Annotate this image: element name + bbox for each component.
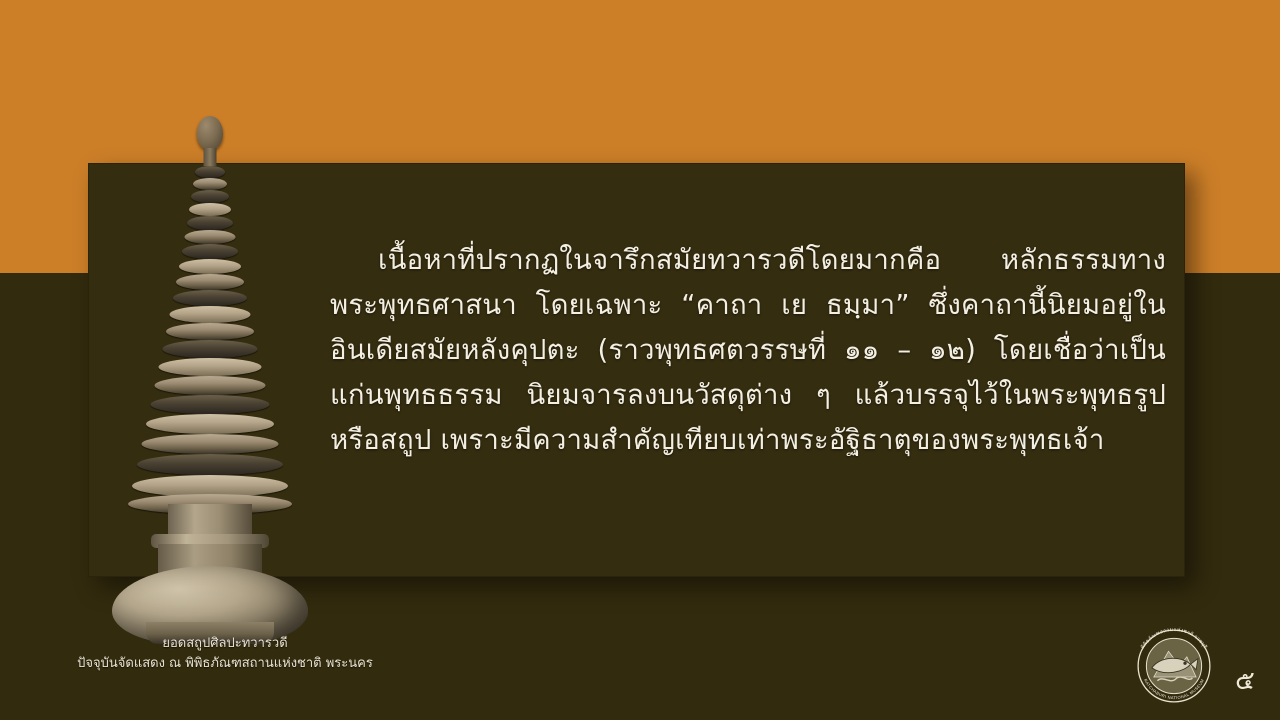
- spire-ring: [195, 166, 225, 178]
- spire-ring: [146, 414, 274, 434]
- caption-line-1: ยอดสถูปศิลปะทวารวดี: [60, 634, 390, 654]
- finial-neck: [204, 148, 217, 166]
- spire-ring: [173, 290, 247, 306]
- finial-bud: [197, 116, 223, 150]
- spire-ring: [189, 203, 231, 216]
- spire-ring: [179, 259, 241, 274]
- spire-ring: [151, 395, 270, 414]
- body-paragraph: เนื้อหาที่ปรากฏในจารึกสมัยทวารวดีโดยมากค…: [330, 238, 1166, 463]
- spire-ring: [182, 244, 238, 259]
- spire-ring: [142, 434, 279, 454]
- slide-canvas: เนื้อหาที่ปรากฏในจารึกสมัยทวารวดีโดยมากค…: [0, 0, 1280, 720]
- caption-line-2: ปัจจุบันจัดแสดง ณ พิพิธภัณฑสถานแห่งชาติ …: [60, 654, 390, 674]
- stupa-spire: [95, 108, 325, 538]
- spire-ring: [187, 216, 233, 230]
- spire-ring: [176, 274, 244, 290]
- stupa-pot-base: [112, 504, 308, 638]
- spire-ring: [137, 454, 283, 475]
- spire-ring: [193, 178, 227, 190]
- spire-ring: [159, 358, 262, 376]
- spire-ring: [163, 340, 258, 358]
- spire-ring: [155, 376, 266, 395]
- artefact-caption: ยอดสถูปศิลปะทวารวดี ปัจจุบันจัดแสดง ณ พิ…: [60, 634, 390, 674]
- spire-ring: [166, 323, 254, 340]
- spire-ring: [170, 306, 251, 323]
- stupa-finial-photo: [95, 108, 325, 638]
- museum-seal-logo: พิพิธภัณฑสถานแห่งชาติ ราชบุรี RATCHABURI…: [1128, 620, 1220, 712]
- spire-ring: [191, 190, 229, 203]
- spire-ring: [185, 230, 236, 244]
- page-number: ๕: [1228, 664, 1262, 698]
- pot-neck: [168, 504, 252, 538]
- body-copy: เนื้อหาที่ปรากฏในจารึกสมัยทวารวดีโดยมากค…: [330, 238, 1166, 463]
